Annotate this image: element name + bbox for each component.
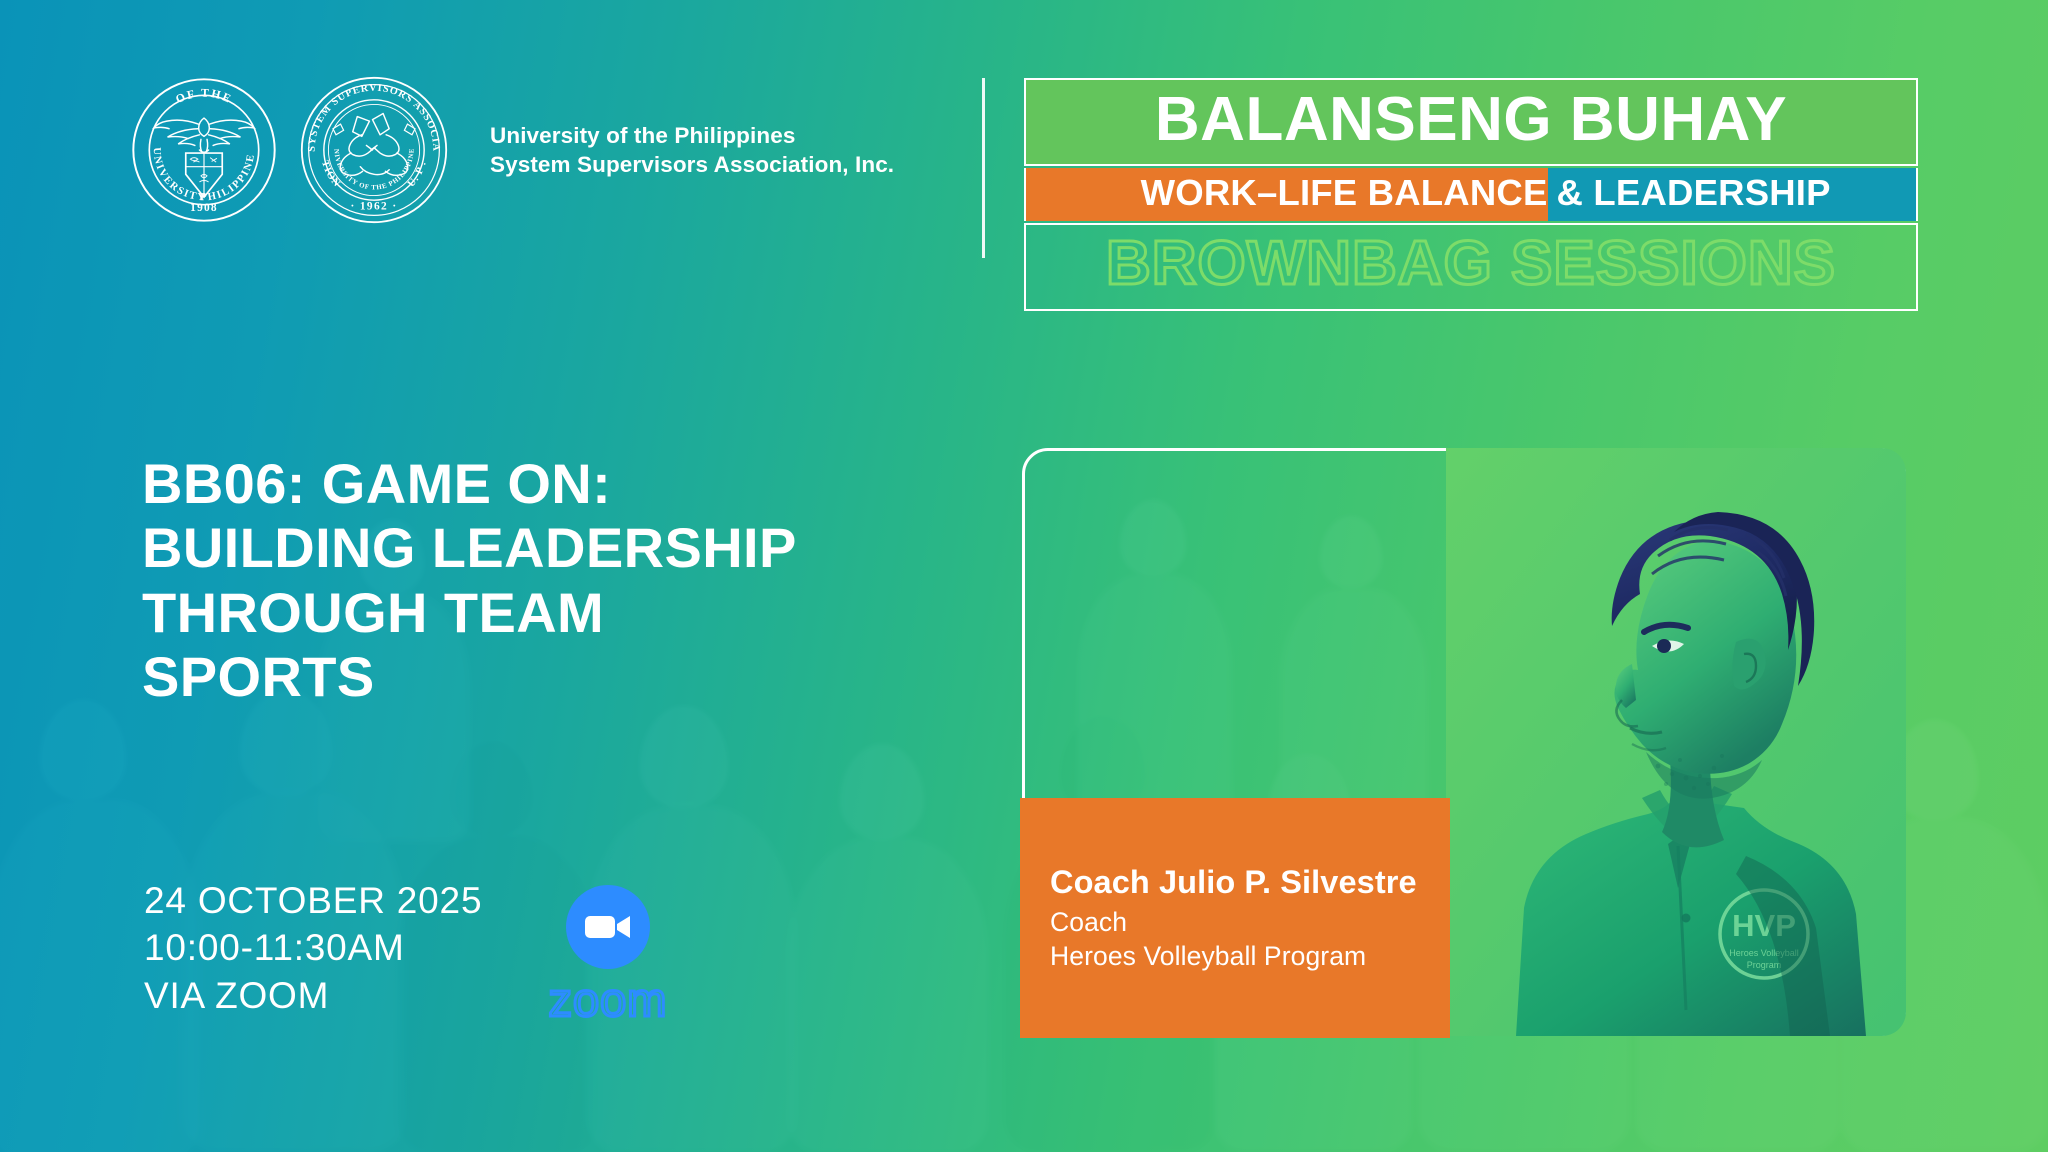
schedule-details: 24 OCTOBER 2025 10:00-11:30AM VIA ZOOM bbox=[144, 877, 482, 1019]
svg-text:UNIVERSITY: UNIVERSITY bbox=[151, 147, 207, 203]
svg-text:· 1962 ·: · 1962 · bbox=[350, 200, 397, 212]
svg-text:SYSTEM SUPERVISORS ASSOCIA: SYSTEM SUPERVISORS ASSOCIA bbox=[307, 83, 442, 152]
speaker-info-box: Coach Julio P. Silvestre Coach Heroes Vo… bbox=[1020, 798, 1450, 1038]
banner-subtitle-right-cell: & LEADERSHIP bbox=[1548, 168, 1916, 221]
speaker-name: Coach Julio P. Silvestre bbox=[1050, 864, 1450, 900]
banner-series-row: BROWNBAG SESSIONS bbox=[1024, 223, 1918, 311]
brand-bar: OF THE UNIVERSITY PHILIPPINES 1908 bbox=[128, 74, 894, 226]
organization-name: University of the Philippines System Sup… bbox=[490, 121, 894, 180]
speaker-portrait-image: HVP Heroes Volleyball Program bbox=[1446, 448, 1906, 1036]
header-divider bbox=[982, 78, 985, 258]
speaker-card: HVP Heroes Volleyball Program bbox=[1022, 448, 1906, 1036]
zoom-circle bbox=[566, 885, 650, 969]
speaker-organization: Heroes Volleyball Program bbox=[1050, 940, 1450, 973]
speaker-role: Coach bbox=[1050, 906, 1450, 939]
video-camera-icon bbox=[583, 912, 633, 942]
banner-series-name: BROWNBAG SESSIONS bbox=[1026, 233, 1916, 295]
banner-subtitle-left: WORK–LIFE BALANCE bbox=[1117, 175, 1548, 212]
svg-text:OF THE: OF THE bbox=[174, 87, 234, 106]
event-poster: OF THE UNIVERSITY PHILIPPINES 1908 bbox=[0, 0, 2048, 1152]
up-seal: OF THE UNIVERSITY PHILIPPINES 1908 bbox=[128, 74, 280, 226]
session-title: BB06: Game On: Building Leadership Throu… bbox=[142, 452, 1002, 710]
upssai-seal: SYSTEM SUPERVISORS ASSOCIA U. P . TION U… bbox=[298, 74, 450, 226]
banner-title-row: BALANSENG BUHAY bbox=[1024, 78, 1918, 166]
banner-subtitle-row: WORK–LIFE BALANCE & LEADERSHIP bbox=[1024, 168, 1918, 221]
svg-text:1908: 1908 bbox=[190, 202, 218, 214]
banner-title: BALANSENG BUHAY bbox=[1026, 89, 1916, 151]
series-banner: BALANSENG BUHAY WORK–LIFE BALANCE & LEAD… bbox=[1024, 78, 1918, 311]
banner-subtitle-left-cell: WORK–LIFE BALANCE bbox=[1026, 168, 1548, 221]
zoom-logo: zoom bbox=[540, 885, 676, 1023]
zoom-wordmark: zoom bbox=[540, 976, 676, 1023]
banner-subtitle-right: & LEADERSHIP bbox=[1548, 175, 1831, 212]
speaker-photo: HVP Heroes Volleyball Program bbox=[1446, 448, 1906, 1036]
svg-text:Program: Program bbox=[1747, 960, 1782, 970]
